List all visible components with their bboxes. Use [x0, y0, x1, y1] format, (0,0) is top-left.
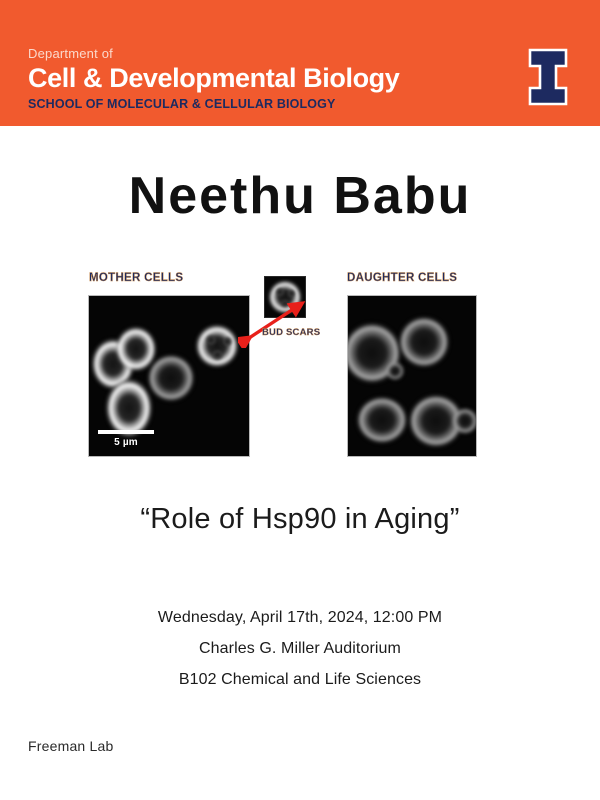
header-band: Department of Cell & Developmental Biolo…	[0, 0, 600, 126]
block-i-logo	[524, 48, 572, 106]
bud-scars-label: BUD SCARS	[262, 327, 320, 338]
daughter-cells-label: DAUGHTER CELLS	[347, 272, 457, 284]
yeast-cell-with-bud-scars	[195, 324, 239, 368]
scale-bar	[98, 430, 154, 434]
bud-scars-arrow-icon	[238, 300, 308, 348]
yeast-cell	[105, 378, 153, 438]
yeast-cell	[147, 354, 195, 402]
event-datetime: Wednesday, April 17th, 2024, 12:00 PM	[0, 602, 600, 633]
bud-scar	[275, 287, 285, 297]
yeast-cell	[398, 316, 450, 368]
mother-cells-label: MOTHER CELLS	[89, 272, 183, 284]
bud-scar	[222, 336, 233, 347]
event-room: B102 Chemical and Life Sciences	[0, 664, 600, 695]
yeast-bud	[386, 362, 404, 380]
school-name: SCHOOL OF MOLECULAR & CELLULAR BIOLOGY	[28, 97, 399, 112]
department-of-label: Department of	[28, 46, 399, 62]
yeast-bud	[452, 408, 477, 434]
daughter-cells-micrograph	[347, 295, 477, 457]
speaker-name: Neethu Babu	[0, 168, 600, 225]
bud-scar	[211, 349, 224, 361]
footer-lab-name: Freeman Lab	[28, 738, 113, 754]
header-text-block: Department of Cell & Developmental Biolo…	[28, 46, 399, 112]
event-venue: Charles G. Miller Auditorium	[0, 633, 600, 664]
talk-title: “Role of Hsp90 in Aging”	[0, 503, 600, 536]
bud-scar	[205, 334, 217, 346]
bud-scar	[287, 289, 296, 298]
scale-bar-label: 5 µm	[98, 437, 154, 448]
event-details: Wednesday, April 17th, 2024, 12:00 PM Ch…	[0, 602, 600, 696]
department-name: Cell & Developmental Biology	[28, 63, 399, 95]
yeast-cell	[356, 396, 408, 444]
